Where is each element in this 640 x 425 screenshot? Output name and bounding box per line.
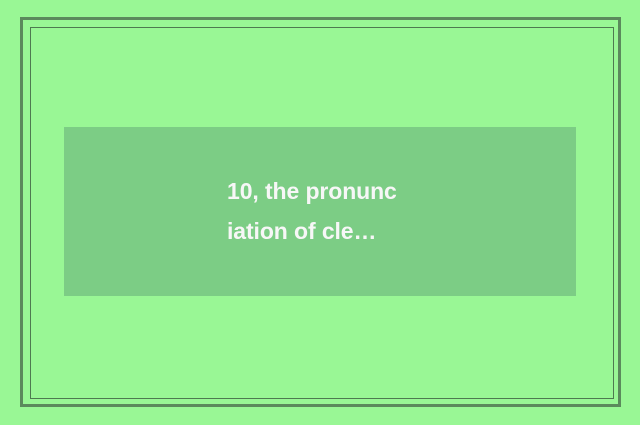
caption-text-block: 10, the pronunc iation of cle… (227, 171, 557, 251)
image-canvas: 10, the pronunc iation of cle… (0, 0, 640, 425)
caption-line-2: iation of cle… (227, 211, 557, 251)
caption-line-1: 10, the pronunc (227, 171, 557, 211)
content-panel: 10, the pronunc iation of cle… (64, 127, 576, 296)
